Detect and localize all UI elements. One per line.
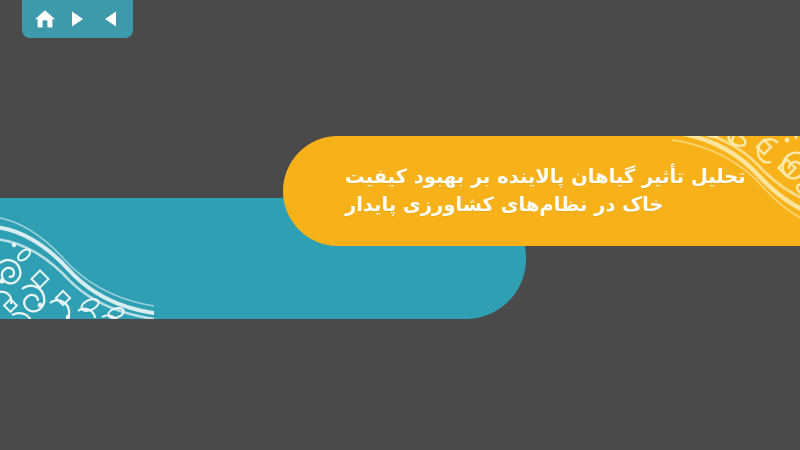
slide-title-line-1: تحلیل تأثیر گیاهان پالاینده بر بهبود کیف… [345, 163, 746, 191]
title-banner: تحلیل تأثیر گیاهان پالاینده بر بهبود کیف… [283, 136, 800, 246]
slide-title: تحلیل تأثیر گیاهان پالاینده بر بهبود کیف… [345, 136, 771, 246]
home-icon [34, 9, 56, 29]
slide-canvas: تحلیل تأثیر گیاهان پالاینده بر بهبود کیف… [0, 0, 800, 450]
forward-icon [69, 10, 86, 28]
arabesque-ornament-bottom-left [0, 198, 154, 319]
navigation-toolbar [22, 0, 133, 38]
back-icon [102, 10, 119, 28]
back-button[interactable] [98, 6, 124, 32]
home-button[interactable] [32, 6, 58, 32]
forward-button[interactable] [65, 6, 91, 32]
slide-title-line-2: خاک در نظام‌های کشاورزی پایدار [345, 191, 663, 219]
